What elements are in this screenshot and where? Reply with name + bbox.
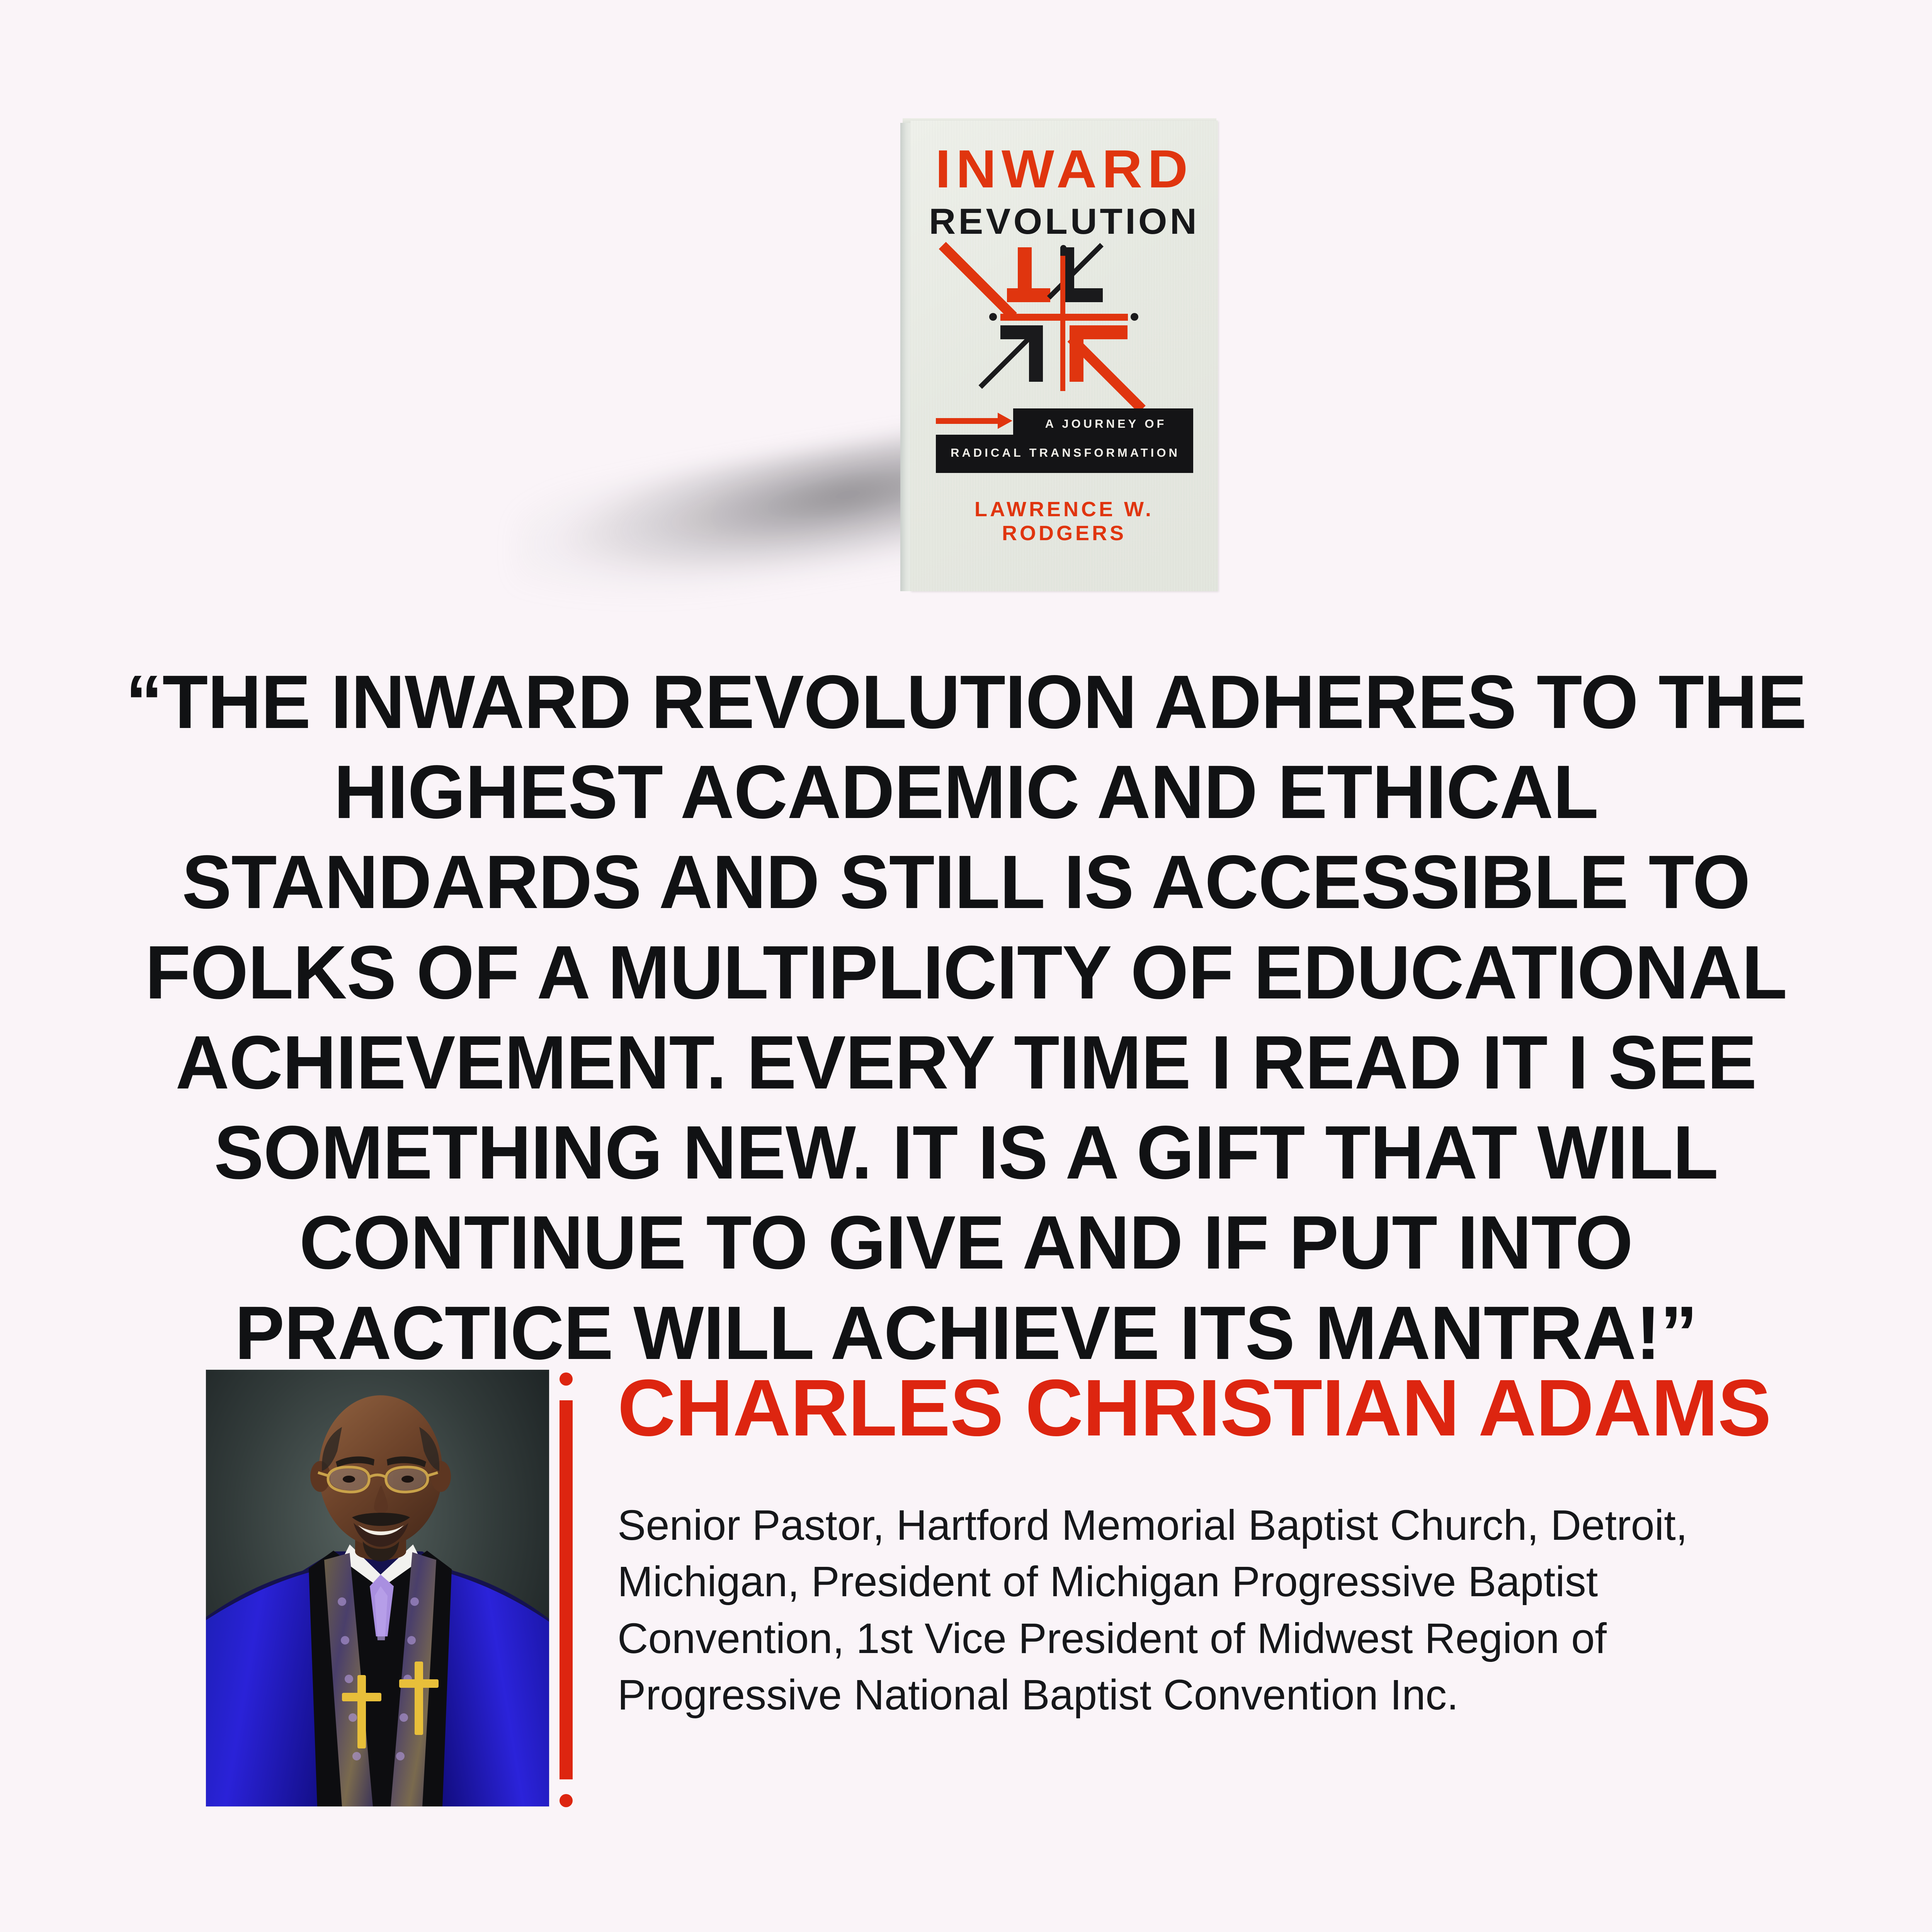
- book-title-line-2: REVOLUTION: [910, 203, 1218, 240]
- book-cover-section: INWARD REVOLUTION: [0, 0, 1932, 638]
- testimonial-quote: “THE INWARD REVOLUTION ADHERES TO THE HI…: [110, 657, 1823, 1378]
- book-subtitle-band: A JOURNEY OF RADICAL TRANSFORMATION: [936, 408, 1193, 473]
- book-spine: [900, 123, 910, 591]
- endorser-name: CHARLES CHRISTIAN ADAMS: [617, 1368, 1771, 1448]
- divider-bar: [560, 1400, 573, 1779]
- book-subtitle-line-1: A JOURNEY OF: [1023, 417, 1189, 431]
- portrait-illustration: [206, 1370, 549, 1806]
- book-front-cover: INWARD REVOLUTION: [910, 121, 1218, 591]
- divider-dot-bottom: [560, 1794, 573, 1807]
- band-arrow-head-icon: [998, 413, 1012, 429]
- book-subtitle-line-2: RADICAL TRANSFORMATION: [940, 446, 1191, 460]
- attribution-section: CHARLES CHRISTIAN ADAMS Senior Pastor, H…: [0, 1368, 1932, 1832]
- book-title-line-1: INWARD: [910, 142, 1218, 196]
- avatar: [206, 1370, 549, 1806]
- band-arrow-shaft-icon: [936, 418, 1001, 424]
- book-drop-shadow: [514, 430, 931, 624]
- divider-dot-top: [560, 1372, 573, 1386]
- book-author-name: LAWRENCE W. RODGERS: [910, 497, 1218, 545]
- converging-arrows-cross-icon: [949, 245, 1181, 400]
- endorser-role: Senior Pastor, Hartford Memorial Baptist…: [617, 1497, 1761, 1723]
- vertical-dotted-rule-icon: [560, 1372, 573, 1807]
